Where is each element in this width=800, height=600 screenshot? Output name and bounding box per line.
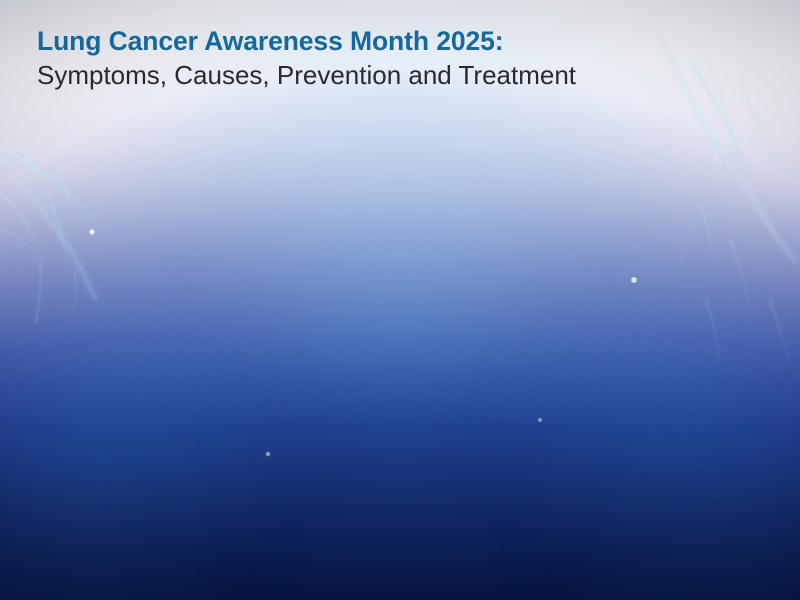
lung-cancer-awareness-banner: Lung Cancer Awareness Month 2025: Sympto… bbox=[0, 0, 800, 600]
page-title-subhead: Symptoms, Causes, Prevention and Treatme… bbox=[37, 59, 657, 92]
title-block: Lung Cancer Awareness Month 2025: Sympto… bbox=[37, 26, 737, 92]
page-title-headline: Lung Cancer Awareness Month 2025: bbox=[37, 26, 737, 57]
